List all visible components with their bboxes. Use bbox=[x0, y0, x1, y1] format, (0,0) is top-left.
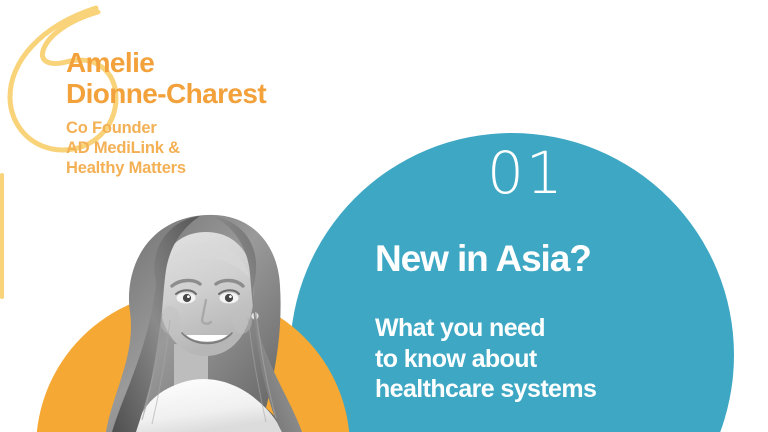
vertical-accent-rule bbox=[0, 173, 4, 299]
session-title: New in Asia? bbox=[375, 240, 591, 279]
speaker-name: Amelie Dionne-Charest bbox=[66, 48, 356, 110]
session-number: 01 bbox=[487, 144, 565, 202]
speaker-role-and-affiliation: Co Founder AD MediLink & Healthy Matters bbox=[66, 118, 356, 178]
session-subtitle: What you need to know about healthcare s… bbox=[375, 313, 596, 405]
presentation-slide: Amelie Dionne-Charest Co Founder AD Medi… bbox=[0, 0, 768, 432]
speaker-info-block: Amelie Dionne-Charest Co Founder AD Medi… bbox=[66, 48, 356, 178]
speaker-portrait-photo bbox=[96, 194, 310, 432]
